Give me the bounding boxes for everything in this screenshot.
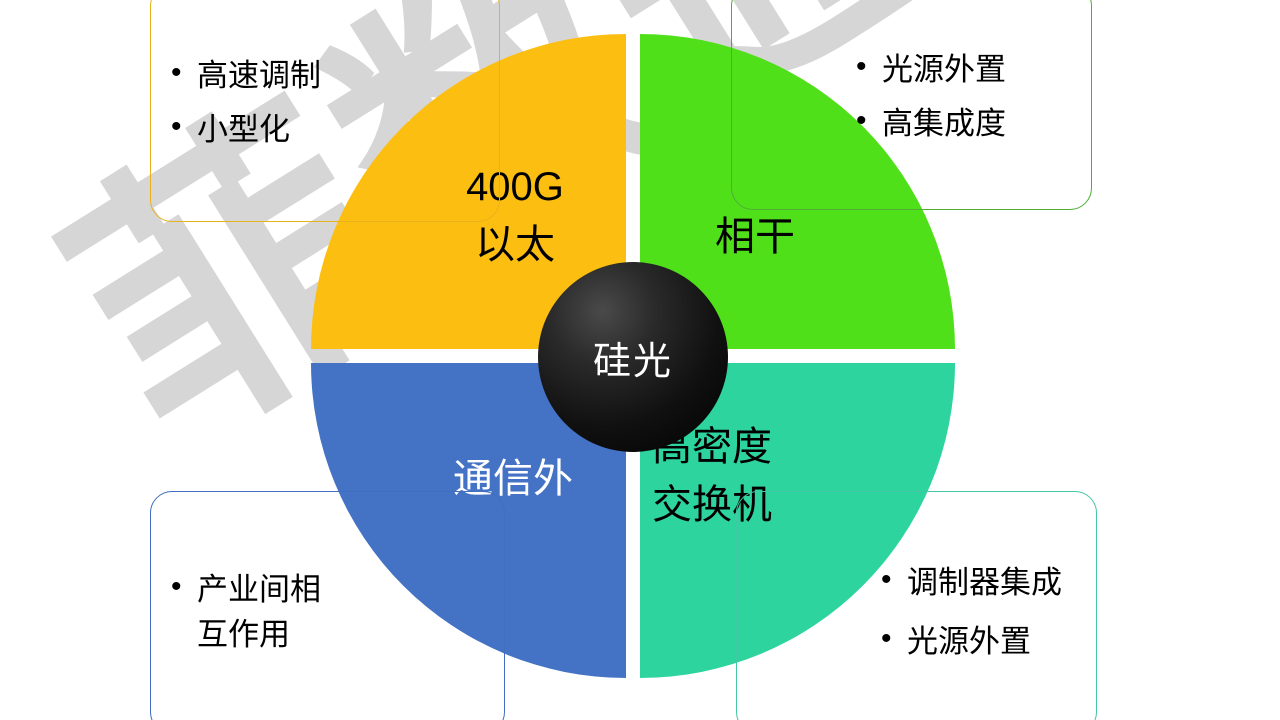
list-item: 高集成度 (852, 102, 1091, 146)
callout-list-bottom-right: 调制器集成 光源外置 (877, 547, 1096, 677)
callout-box-bottom-right[interactable]: 调制器集成 光源外置 (736, 491, 1097, 720)
list-item: 光源外置 (852, 48, 1091, 92)
list-item: 小型化 (167, 108, 499, 152)
list-item: 高速调制 (167, 54, 499, 98)
center-hub[interactable]: 硅光 (538, 262, 728, 452)
callout-list-bottom-left: 产业间相 互作用 (167, 562, 504, 662)
callout-box-top-left[interactable]: 高速调制 小型化 (150, 0, 500, 222)
callout-list-top-right: 光源外置 高集成度 (852, 39, 1091, 154)
list-item: 光源外置 (877, 620, 1096, 664)
callout-box-top-right[interactable]: 光源外置 高集成度 (731, 0, 1092, 210)
center-hub-label: 硅光 (593, 330, 673, 385)
list-item: 产业间相 互作用 (167, 568, 504, 656)
callout-box-bottom-left[interactable]: 产业间相 互作用 (150, 491, 505, 720)
callout-list-top-left: 高速调制 小型化 (167, 45, 499, 160)
pie-wedge-label-top-right: 相干 (640, 208, 870, 266)
list-item: 调制器集成 (877, 561, 1096, 605)
slide-canvas: 菲数通信 400G 以太 相干 通信外 高密度 交换机 硅光 高速调制 小型化 … (0, 0, 1280, 720)
